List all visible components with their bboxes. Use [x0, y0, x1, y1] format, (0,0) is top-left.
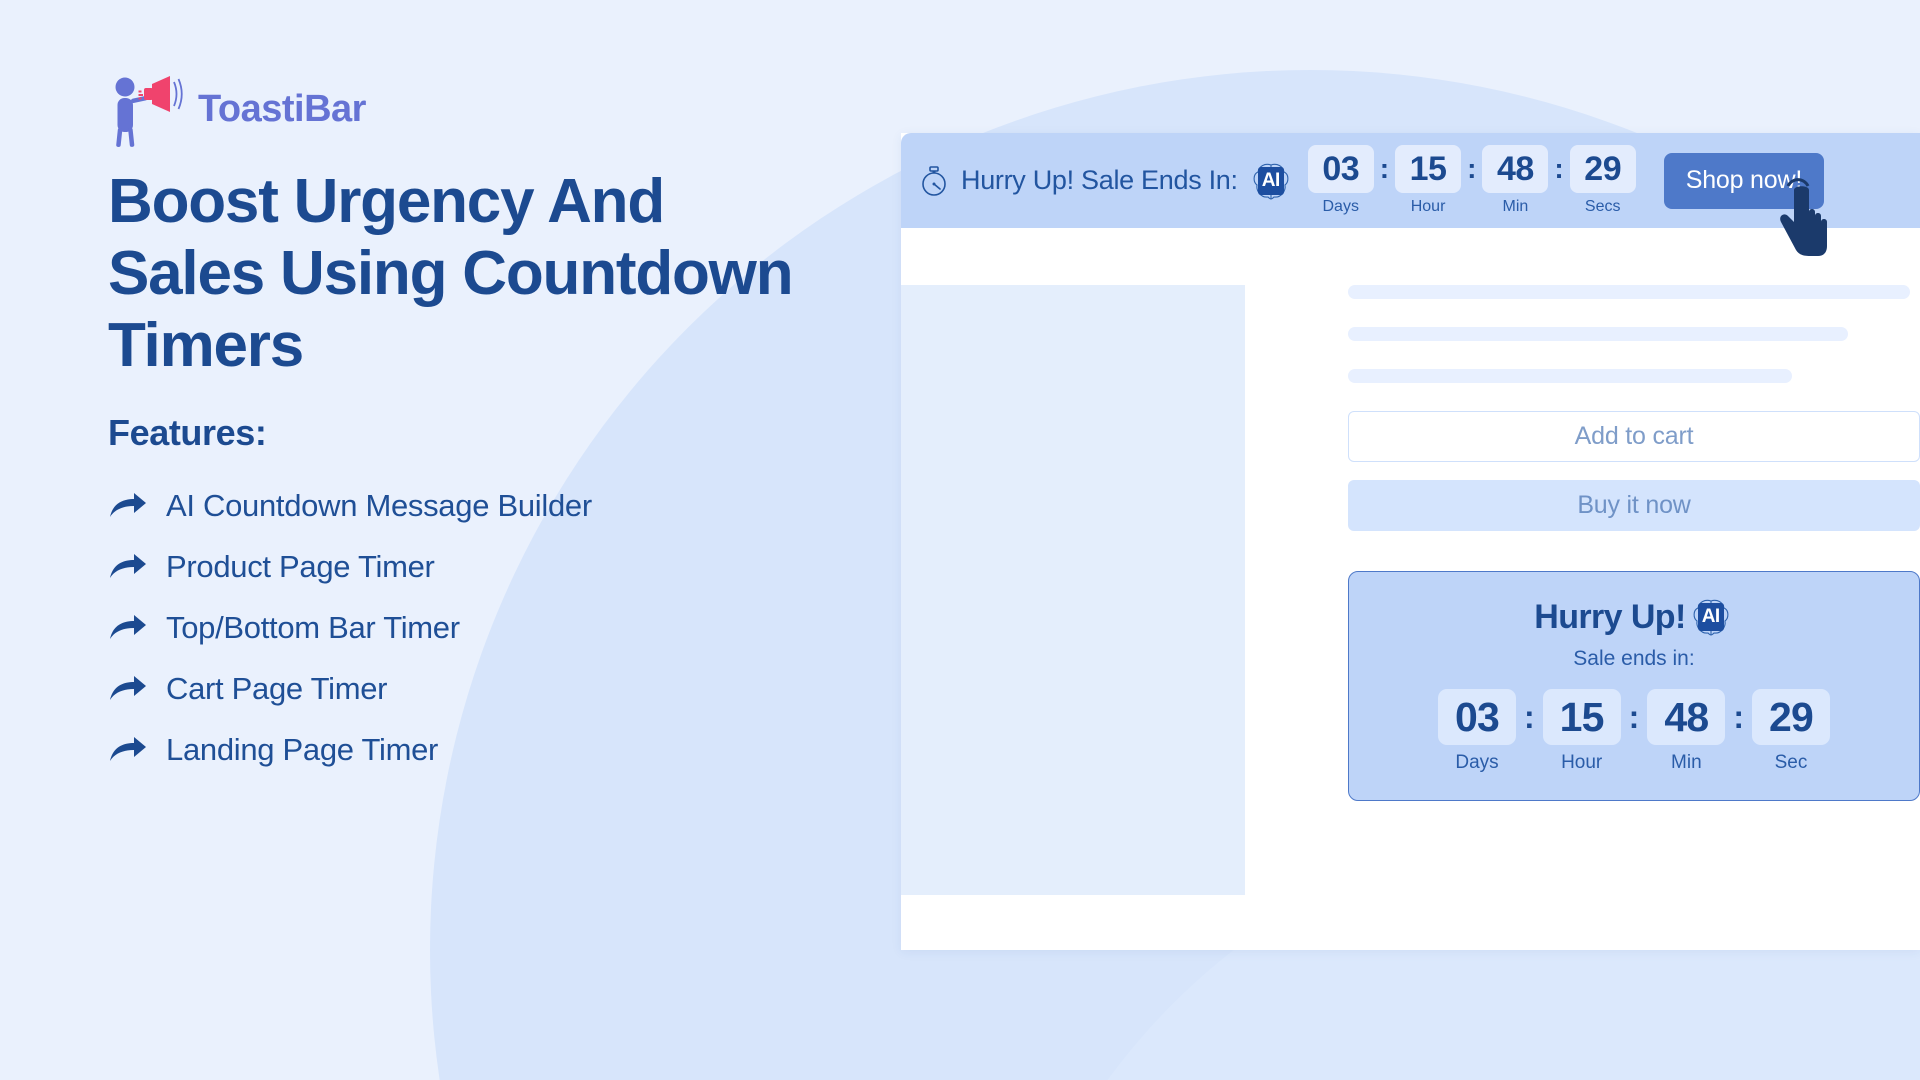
brain-icon: AI — [1248, 158, 1294, 204]
countdown-value: 15 — [1543, 689, 1621, 745]
countdown-value: 48 — [1482, 145, 1548, 193]
page-title: Boost Urgency And Sales Using Countdown … — [108, 166, 818, 382]
forward-arrow-icon — [108, 735, 148, 765]
add-to-cart-button[interactable]: Add to cart — [1348, 411, 1920, 462]
feature-label: Landing Page Timer — [166, 732, 438, 768]
countdown-unit-sec: 29 Sec — [1752, 689, 1830, 774]
feature-label: Product Page Timer — [166, 549, 435, 585]
forward-arrow-icon — [108, 674, 148, 704]
countdown-unit-hour: 15 Hour — [1395, 145, 1461, 216]
product-detail-column: Add to cart Buy it now Hurry Up! — [1348, 285, 1920, 801]
forward-arrow-icon — [108, 491, 148, 521]
announcement-message: Hurry Up! Sale Ends In: — [961, 165, 1238, 196]
text-skeleton-line — [1348, 327, 1848, 341]
list-item: Landing Page Timer — [108, 732, 848, 768]
countdown-label: Sec — [1775, 752, 1808, 774]
brain-icon: AI — [1688, 594, 1734, 640]
store-page-mockup: Hurry Up! Sale Ends In: AI 03 Days — [901, 133, 1920, 950]
countdown-unit-min: 48 Min — [1647, 689, 1725, 774]
countdown-value: 29 — [1570, 145, 1636, 193]
list-item: AI Countdown Message Builder — [108, 488, 848, 524]
feature-label: Top/Bottom Bar Timer — [166, 610, 460, 646]
text-skeleton-line — [1348, 369, 1792, 383]
brand-header: ToastiBar — [108, 70, 848, 148]
countdown-label: Days — [1323, 198, 1359, 216]
countdown-separator: : — [1378, 145, 1391, 193]
countdown-unit-secs: 29 Secs — [1570, 145, 1636, 216]
countdown-value: 29 — [1752, 689, 1830, 745]
countdown-value: 48 — [1647, 689, 1725, 745]
forward-arrow-icon — [108, 552, 148, 582]
countdown-label: Secs — [1585, 198, 1621, 216]
forward-arrow-icon — [108, 613, 148, 643]
countdown-value: 03 — [1438, 689, 1516, 745]
features-list: AI Countdown Message Builder Product Pag… — [108, 488, 848, 768]
list-item: Product Page Timer — [108, 549, 848, 585]
countdown-value: 03 — [1308, 145, 1374, 193]
megaphone-person-icon — [108, 70, 186, 148]
countdown-label: Min — [1671, 752, 1702, 774]
countdown-label: Min — [1503, 198, 1529, 216]
countdown-label: Hour — [1561, 752, 1602, 774]
countdown-label: Days — [1455, 752, 1498, 774]
countdown-unit-min: 48 Min — [1482, 145, 1548, 216]
promo-title-row: Hurry Up! AI — [1349, 594, 1919, 640]
promo-title: Hurry Up! — [1534, 598, 1685, 637]
product-image-placeholder — [901, 285, 1245, 895]
list-item: Cart Page Timer — [108, 671, 848, 707]
announcement-bar: Hurry Up! Sale Ends In: AI 03 Days — [901, 133, 1920, 228]
brand-name: ToastiBar — [198, 88, 366, 131]
feature-label: Cart Page Timer — [166, 671, 387, 707]
countdown-value: 15 — [1395, 145, 1461, 193]
stopwatch-icon — [917, 164, 951, 198]
topbar-countdown: 03 Days : 15 Hour : 48 Min : 29 Secs — [1308, 145, 1636, 216]
countdown-separator: : — [1626, 689, 1643, 745]
ai-badge-label: AI — [1258, 167, 1284, 195]
buy-it-now-button[interactable]: Buy it now — [1348, 480, 1920, 531]
countdown-separator: : — [1521, 689, 1538, 745]
hero-left-column: ToastiBar Boost Urgency And Sales Using … — [108, 70, 848, 793]
list-item: Top/Bottom Bar Timer — [108, 610, 848, 646]
promo-countdown-card: Hurry Up! AI — [1348, 571, 1920, 801]
countdown-separator: : — [1465, 145, 1478, 193]
text-skeleton-line — [1348, 285, 1910, 299]
shop-now-button[interactable]: Shop now! — [1664, 153, 1824, 209]
ai-badge-label: AI — [1698, 603, 1724, 631]
countdown-separator: : — [1730, 689, 1747, 745]
countdown-unit-days: 03 Days — [1308, 145, 1374, 216]
feature-label: AI Countdown Message Builder — [166, 488, 592, 524]
countdown-separator: : — [1552, 145, 1565, 193]
features-heading: Features: — [108, 412, 848, 454]
promo-countdown: 03 Days : 15 Hour : 48 Min : 29 Sec — [1349, 689, 1919, 774]
countdown-unit-days: 03 Days — [1438, 689, 1516, 774]
countdown-unit-hour: 15 Hour — [1543, 689, 1621, 774]
promo-subtitle: Sale ends in: — [1349, 647, 1919, 671]
countdown-label: Hour — [1411, 198, 1446, 216]
